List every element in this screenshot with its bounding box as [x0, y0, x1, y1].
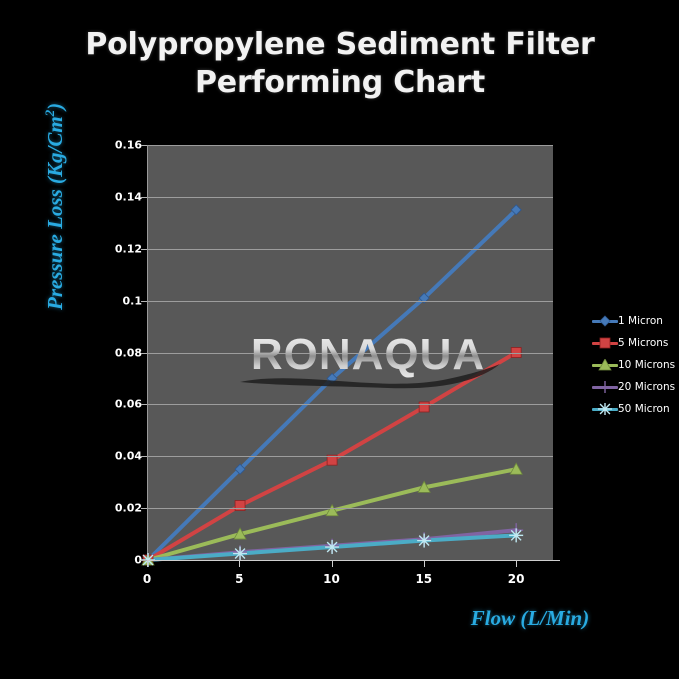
y-tick-mark	[141, 145, 147, 146]
legend-item-5-microns[interactable]: 5 Microns	[592, 332, 678, 354]
legend-item-label: 1 Micron	[618, 315, 663, 327]
legend-item-label: 20 Microns	[618, 381, 675, 393]
y-tick-label: 0.08	[98, 346, 142, 359]
y-tick-label: 0.14	[98, 190, 142, 203]
legend-item-label: 50 Micron	[618, 403, 670, 415]
data-point-star	[598, 403, 612, 415]
y-tick-label: 0.02	[98, 502, 142, 515]
x-tick-mark	[239, 560, 240, 567]
y-tick-mark	[141, 249, 147, 250]
y-tick-mark	[141, 456, 147, 457]
title-line-2: Performing Chart	[60, 64, 620, 102]
gridline	[148, 145, 553, 146]
x-tick-label: 0	[127, 572, 167, 586]
gridline	[148, 508, 553, 509]
y-tick-label: 0	[98, 554, 142, 567]
plot-area	[147, 145, 553, 560]
x-axis-title: Flow (L/Min)	[400, 606, 660, 631]
y-tick-mark	[141, 197, 147, 198]
y-tick-label: 0.12	[98, 242, 142, 255]
gridline	[148, 456, 553, 457]
x-tick-mark	[516, 560, 517, 567]
y-axis-title: Pressure Loss (Kg/Cm2)	[42, 10, 68, 310]
legend-item-label: 10 Microns	[618, 359, 675, 371]
page-title: Polypropylene Sediment Filter Performing…	[60, 26, 620, 102]
x-axis-ticks: 05101520	[147, 560, 553, 594]
legend-marker-icon	[592, 403, 618, 415]
y-tick-label: 0.04	[98, 450, 142, 463]
legend-marker-icon	[592, 381, 618, 393]
x-tick-label: 10	[312, 572, 352, 586]
data-point-star	[509, 528, 523, 542]
x-tick-label: 20	[496, 572, 536, 586]
legend-marker-icon	[592, 359, 618, 371]
legend: 1 Micron5 Microns10 Microns20 Microns50 …	[592, 310, 678, 420]
gridline	[148, 249, 553, 250]
legend-item-20-microns[interactable]: 20 Microns	[592, 376, 678, 398]
gridline	[148, 353, 553, 354]
gridline	[148, 404, 553, 405]
x-tick-mark	[332, 560, 333, 567]
legend-item-label: 5 Microns	[618, 337, 668, 349]
y-tick-mark	[141, 404, 147, 405]
y-tick-mark	[141, 353, 147, 354]
legend-item-50-micron[interactable]: 50 Micron	[592, 398, 678, 420]
chart-page: Polypropylene Sediment Filter Performing…	[0, 0, 679, 679]
data-point-cross	[598, 381, 612, 393]
data-point-star	[233, 547, 247, 561]
data-point-star	[325, 540, 339, 554]
legend-item-1-micron[interactable]: 1 Micron	[592, 310, 678, 332]
legend-marker-icon	[592, 315, 618, 327]
title-line-1: Polypropylene Sediment Filter	[60, 26, 620, 64]
y-tick-mark	[141, 560, 147, 561]
y-axis-ticks: 00.020.040.060.080.10.120.140.16	[96, 145, 142, 560]
y-tick-label: 0.16	[98, 139, 142, 152]
y-tick-label: 0.1	[98, 294, 142, 307]
data-point-diamond	[600, 316, 610, 326]
y-tick-label: 0.06	[98, 398, 142, 411]
legend-marker-icon	[592, 337, 618, 349]
data-point-star	[417, 534, 431, 548]
gridline	[148, 301, 553, 302]
x-tick-mark	[424, 560, 425, 567]
x-tick-label: 5	[219, 572, 259, 586]
y-tick-mark	[141, 301, 147, 302]
gridline	[148, 197, 553, 198]
x-tick-mark	[147, 560, 148, 567]
data-point-square	[600, 338, 610, 348]
data-point-triangle	[599, 359, 611, 370]
y-tick-mark	[141, 508, 147, 509]
legend-item-10-microns[interactable]: 10 Microns	[592, 354, 678, 376]
x-tick-label: 15	[404, 572, 444, 586]
